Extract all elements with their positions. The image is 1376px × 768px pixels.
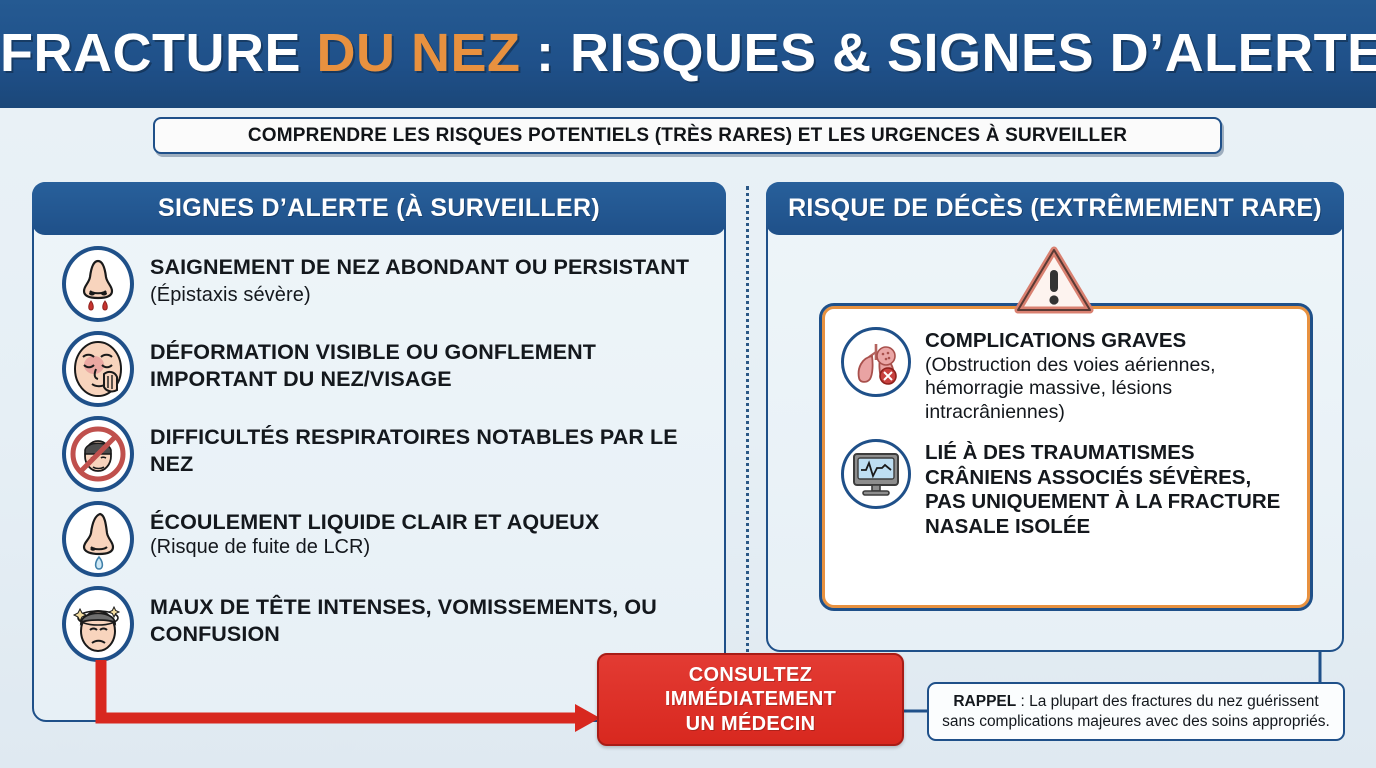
list-item-title: ÉCOULEMENT LIQUIDE CLAIR ET AQUEUX: [150, 509, 599, 536]
list-item-subtitle: (Risque de fuite de LCR): [150, 536, 599, 559]
title-accent: DU NEZ: [316, 23, 520, 83]
bleeding-nose-icon: [62, 246, 134, 322]
title-part-1: FRACTURE: [0, 23, 316, 83]
title-part-2: : RISQUES & SIGNES D’ALERTE: [520, 23, 1376, 83]
list-item-text: LIÉ À DES TRAUMATISMES CRÂNIENS ASSOCIÉS…: [925, 439, 1297, 539]
warning-signs-panel: SIGNES D’ALERTE (À SURVEILLER) SAIGNEMEN…: [32, 182, 726, 722]
list-item-subtitle: (Obstruction des voies aériennes, hémorr…: [925, 354, 1297, 425]
reminder-box: RAPPEL : La plupart des fractures du nez…: [927, 682, 1345, 741]
list-item-text: DIFFICULTÉS RESPIRATOIRES NOTABLES PAR L…: [150, 416, 712, 478]
no-breathing-icon: [62, 416, 134, 492]
list-item-title: DÉFORMATION VISIBLE OU GONFLEMENT IMPORT…: [150, 339, 712, 393]
list-item-text: COMPLICATIONS GRAVES (Obstruction des vo…: [925, 327, 1297, 425]
list-item: MAUX DE TÊTE INTENSES, VOMISSEMENTS, OU …: [62, 586, 712, 662]
subtitle-banner: COMPRENDRE LES RISQUES POTENTIELS (TRÈS …: [153, 117, 1222, 154]
list-item-title: MAUX DE TÊTE INTENSES, VOMISSEMENTS, OU …: [150, 594, 712, 648]
list-item-text: SAIGNEMENT DE NEZ ABONDANT OU PERSISTANT…: [150, 246, 712, 308]
consult-doctor-cta[interactable]: CONSULTEZ IMMÉDIATEMENT UN MÉDECIN: [597, 653, 904, 746]
list-item-text: ÉCOULEMENT LIQUIDE CLAIR ET AQUEUX (Risq…: [150, 501, 599, 559]
list-item: DIFFICULTÉS RESPIRATOIRES NOTABLES PAR L…: [62, 416, 712, 492]
vital-monitor-icon: [841, 439, 911, 509]
reminder-text: RAPPEL : La plupart des fractures du nez…: [939, 692, 1333, 732]
list-item-title: SAIGNEMENT DE NEZ ABONDANT OU PERSISTANT…: [150, 254, 712, 308]
cta-line-3: UN MÉDECIN: [686, 712, 816, 736]
lungs-icon: [841, 327, 911, 397]
warning-signs-panel-title: SIGNES D’ALERTE (À SURVEILLER): [158, 194, 600, 223]
list-item-title: COMPLICATIONS GRAVES: [925, 329, 1297, 354]
death-risk-panel-header: RISQUE DE DÉCÈS (EXTRÊMEMENT RARE): [766, 182, 1344, 235]
cta-line-2: IMMÉDIATEMENT: [665, 687, 836, 711]
death-risk-panel-title: RISQUE DE DÉCÈS (EXTRÊMEMENT RARE): [788, 194, 1322, 223]
list-item-title-text: SAIGNEMENT DE NEZ ABONDANT OU PERSISTANT: [150, 255, 689, 279]
list-item: COMPLICATIONS GRAVES (Obstruction des vo…: [841, 327, 1297, 425]
list-item-title: LIÉ À DES TRAUMATISMES CRÂNIENS ASSOCIÉS…: [925, 441, 1297, 539]
clear-fluid-nose-icon: [62, 501, 134, 577]
subtitle-text: COMPRENDRE LES RISQUES POTENTIELS (TRÈS …: [248, 125, 1127, 147]
cta-line-1: CONSULTEZ: [689, 663, 812, 687]
panel-divider: [746, 186, 749, 660]
list-item-title-text: ÉCOULEMENT LIQUIDE CLAIR ET AQUEUX: [150, 510, 599, 534]
list-item-text: MAUX DE TÊTE INTENSES, VOMISSEMENTS, OU …: [150, 586, 712, 648]
page-title: FRACTURE DU NEZ : RISQUES & SIGNES D’ALE…: [0, 22, 1376, 84]
list-item: LIÉ À DES TRAUMATISMES CRÂNIENS ASSOCIÉS…: [841, 439, 1297, 539]
warning-signs-list: SAIGNEMENT DE NEZ ABONDANT OU PERSISTANT…: [62, 246, 712, 671]
list-item: SAIGNEMENT DE NEZ ABONDANT OU PERSISTANT…: [62, 246, 712, 322]
death-risk-card: COMPLICATIONS GRAVES (Obstruction des vo…: [822, 306, 1310, 608]
list-item-title: DIFFICULTÉS RESPIRATOIRES NOTABLES PAR L…: [150, 424, 712, 478]
death-risk-panel: RISQUE DE DÉCÈS (EXTRÊMEMENT RARE): [766, 182, 1344, 652]
death-risk-list: COMPLICATIONS GRAVES (Obstruction des vo…: [841, 327, 1297, 553]
headache-dizzy-icon: [62, 586, 134, 662]
warning-triangle-icon: [1014, 244, 1094, 316]
warning-signs-panel-header: SIGNES D’ALERTE (À SURVEILLER): [32, 182, 726, 235]
reminder-label: RAPPEL: [953, 693, 1016, 710]
list-item: ÉCOULEMENT LIQUIDE CLAIR ET AQUEUX (Risq…: [62, 501, 712, 577]
list-item: DÉFORMATION VISIBLE OU GONFLEMENT IMPORT…: [62, 331, 712, 407]
swollen-face-icon: [62, 331, 134, 407]
list-item-subtitle-text: (Épistaxis sévère): [150, 284, 311, 306]
list-item-text: DÉFORMATION VISIBLE OU GONFLEMENT IMPORT…: [150, 331, 712, 393]
